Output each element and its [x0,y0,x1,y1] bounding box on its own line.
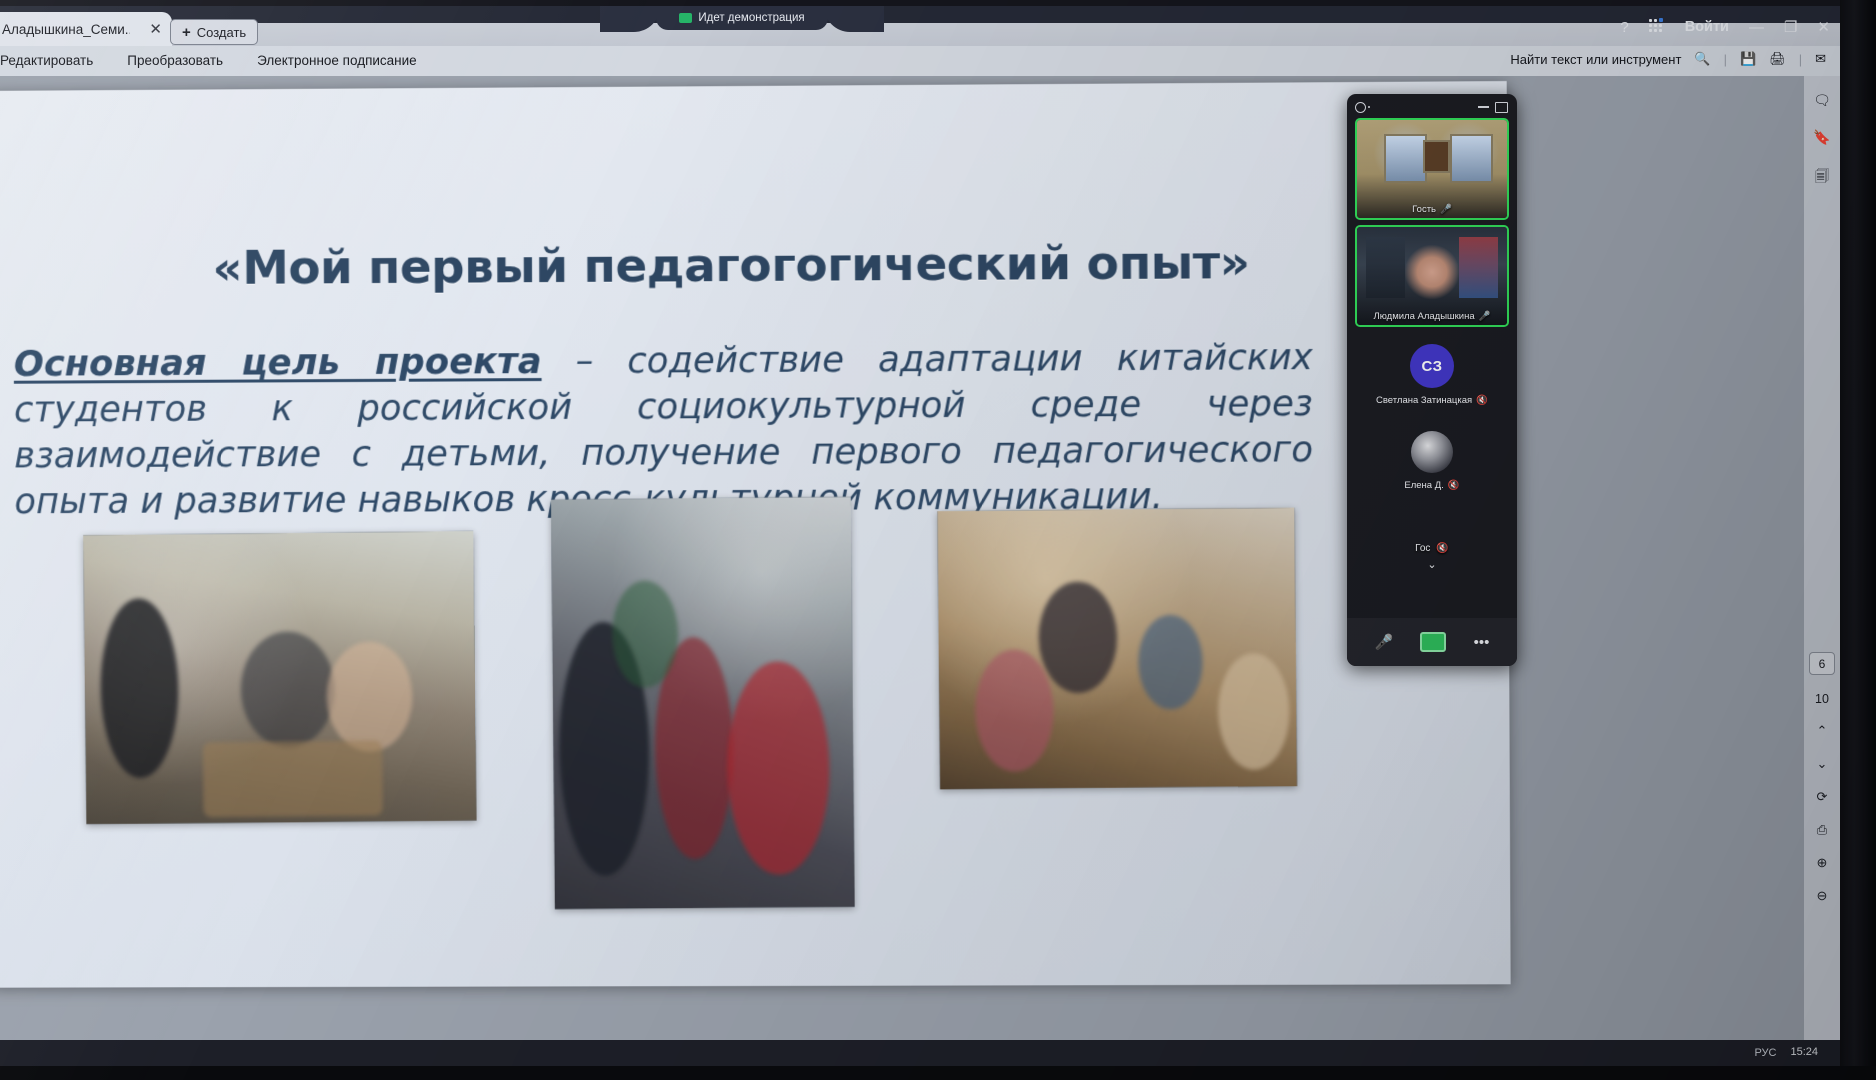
avatar: СЗ [1410,344,1454,388]
participant-name-row: Елена Д. 🔇 [1404,480,1459,491]
menu-bar: Редактировать Преобразовать Электронное … [0,46,1840,77]
demo-pill-right-curve [824,6,884,32]
restore-icon[interactable]: ❐ [1784,20,1797,35]
current-page-input[interactable]: 6 [1809,652,1835,675]
video-call-controls: 🎤 ••• [1347,618,1517,666]
self-view-name-row: Гос 🔇 [1355,543,1509,554]
comment-icon[interactable]: 🗨 [1813,92,1831,109]
new-document-button[interactable]: + Создать [170,19,258,45]
screen-sharing-label: Идет демонстрация [698,12,804,24]
photo-kindergarten-table [937,508,1297,790]
participant-name-row: Людмила Аладышкина 🎤 [1357,311,1507,322]
participant-tile-svetlana[interactable]: СЗ Светлана Затинацкая 🔇 [1347,332,1517,418]
bookshelf-shape-right [1459,237,1498,298]
participant-name: Гость [1412,204,1436,215]
slide-page: «Мой первый педагогогический опыт» Основ… [0,81,1511,988]
page-title: «Мой первый педагогогический опыт» [137,235,1327,297]
tab-strip: Аладышкина_Семи... ✕ + Создать Идет демо… [0,6,1840,46]
window-controls-group: ? Войти — ❐ ✕ [1620,12,1830,42]
participant-tile-elena[interactable]: Елена Д. 🔇 [1347,418,1517,504]
microphone-muted-icon: 🔇 [1476,395,1488,406]
mail-icon[interactable]: ✉ [1815,51,1826,67]
video-panel-titlebar [1347,94,1517,118]
participant-name-row: Светлана Затинацкая 🔇 [1376,395,1488,406]
toolbar-separator-2: | [1799,52,1802,67]
monitor-bezel-bottom [0,1066,1876,1080]
screen-sharing-banner[interactable]: Идет демонстрация [656,6,828,30]
bookmark-icon[interactable]: 🔖 [1813,129,1830,146]
participant-name: Елена Д. [1404,480,1443,491]
tab-title: Аладышкина_Семи... [2,22,130,37]
save-icon[interactable]: 💾 [1740,51,1756,67]
minimize-icon[interactable]: — [1749,20,1764,35]
menu-item-edit[interactable]: Редактировать [0,50,97,71]
self-view-name: Гос [1415,543,1430,554]
os-taskbar: РУС 15:24 [0,1040,1840,1066]
total-pages-label: 10 [1815,692,1829,706]
self-view-tile[interactable]: Гос 🔇 ⌄ [1355,508,1509,588]
photo-kindergarten-content [937,508,1297,790]
photo-classroom-boy-girl [83,531,477,825]
camera-icon [1355,102,1366,113]
share-screen-button[interactable] [1420,632,1446,652]
taskbar-language[interactable]: РУС [1754,1047,1776,1059]
video-minimize-icon[interactable] [1478,106,1489,108]
sign-in-button[interactable]: Войти [1685,19,1729,35]
slide-body-lead: Основная цель проекта [14,341,542,385]
participant-tile-lyudmila[interactable]: Людмила Аладышкина 🎤 [1355,225,1509,327]
apps-grid-icon[interactable] [1649,19,1665,35]
search-icon[interactable]: 🔍 [1694,51,1710,67]
microphone-icon: 🎤 [1479,311,1491,322]
photo-classroom-content [83,531,477,825]
zoom-out-icon[interactable]: ⊖ [1817,888,1828,904]
participant-tile-guest[interactable]: Гость 🎤 [1355,118,1509,220]
window-shape-right [1450,134,1493,183]
document-tab[interactable]: Аладышкина_Семи... ✕ [0,12,172,46]
print-icon[interactable]: 🖨 [1769,51,1786,67]
monitor-photo: Аладышкина_Семи... ✕ + Создать Идет демо… [0,0,1876,1080]
participant-name: Светлана Затинацкая [1376,395,1472,406]
participant-name-row: Гость 🎤 [1357,204,1507,215]
microphone-toggle-button[interactable]: 🎤 [1375,633,1394,651]
export-icon[interactable]: ⎙ [1817,822,1827,838]
slide-body-text: Основная цель проекта – содействие адапт… [14,335,1314,526]
plus-icon: + [182,24,191,41]
reader-tool-rail-bottom: 6 10 ⌃ ⌄ ⟳ ⎙ ⊕ ⊖ [1804,636,1840,1056]
monitor-bezel-right [1840,0,1876,1080]
screen-share-icon [679,13,692,23]
close-tab-icon[interactable]: ✕ [145,20,166,39]
title-bar-dark-band [0,6,1840,23]
participant-name: Людмила Аладышкина [1374,311,1475,322]
menu-bar-tools: Найти текст или инструмент 🔍 | 💾 🖨 | ✉ [1510,51,1826,67]
reader-tool-rail-top: 🗨 🔖 🗐 [1804,76,1840,636]
pages-icon[interactable]: 🗐 [1815,166,1829,190]
more-options-button[interactable]: ••• [1474,634,1490,651]
new-document-label: Создать [197,25,246,40]
taskbar-clock[interactable]: 15:24 [1790,1047,1818,1059]
menu-item-convert[interactable]: Преобразовать [123,50,227,71]
previous-page-icon[interactable]: ⌃ [1817,723,1828,739]
photo-hallway-content [551,497,855,910]
avatar [1411,431,1453,473]
pdf-application-window: Аладышкина_Семи... ✕ + Создать Идет демо… [0,6,1840,1066]
menu-item-esign[interactable]: Электронное подписание [253,50,421,71]
chevron-down-icon[interactable]: ⌄ [1355,558,1509,571]
window-shape-left [1384,134,1427,183]
document-canvas[interactable]: «Мой первый педагогогический опыт» Основ… [0,76,1840,1066]
microphone-muted-icon: 🔇 [1436,543,1448,554]
camera-icon-dot [1368,106,1370,108]
next-page-icon[interactable]: ⌄ [1817,756,1828,772]
zoom-in-icon[interactable]: ⊕ [1817,855,1828,871]
menu-items: Редактировать Преобразовать Электронное … [0,50,421,71]
bookshelf-shape-left [1366,237,1405,298]
video-maximize-icon[interactable] [1495,102,1508,113]
toolbar-separator-1: | [1724,52,1727,67]
microphone-muted-icon: 🔇 [1448,480,1460,491]
rotate-icon[interactable]: ⟳ [1817,789,1828,805]
search-input[interactable]: Найти текст или инструмент [1510,52,1681,67]
help-icon[interactable]: ? [1620,20,1628,35]
picture-frame-shape [1423,140,1450,173]
video-conference-panel[interactable]: Гость 🎤 Людмила Аладышкина 🎤 СЗ Светлана… [1347,94,1517,666]
close-window-icon[interactable]: ✕ [1817,20,1830,35]
demo-pill-left-curve [600,6,660,32]
microphone-icon: 🎤 [1440,204,1452,215]
photo-hallway-children [551,497,855,910]
